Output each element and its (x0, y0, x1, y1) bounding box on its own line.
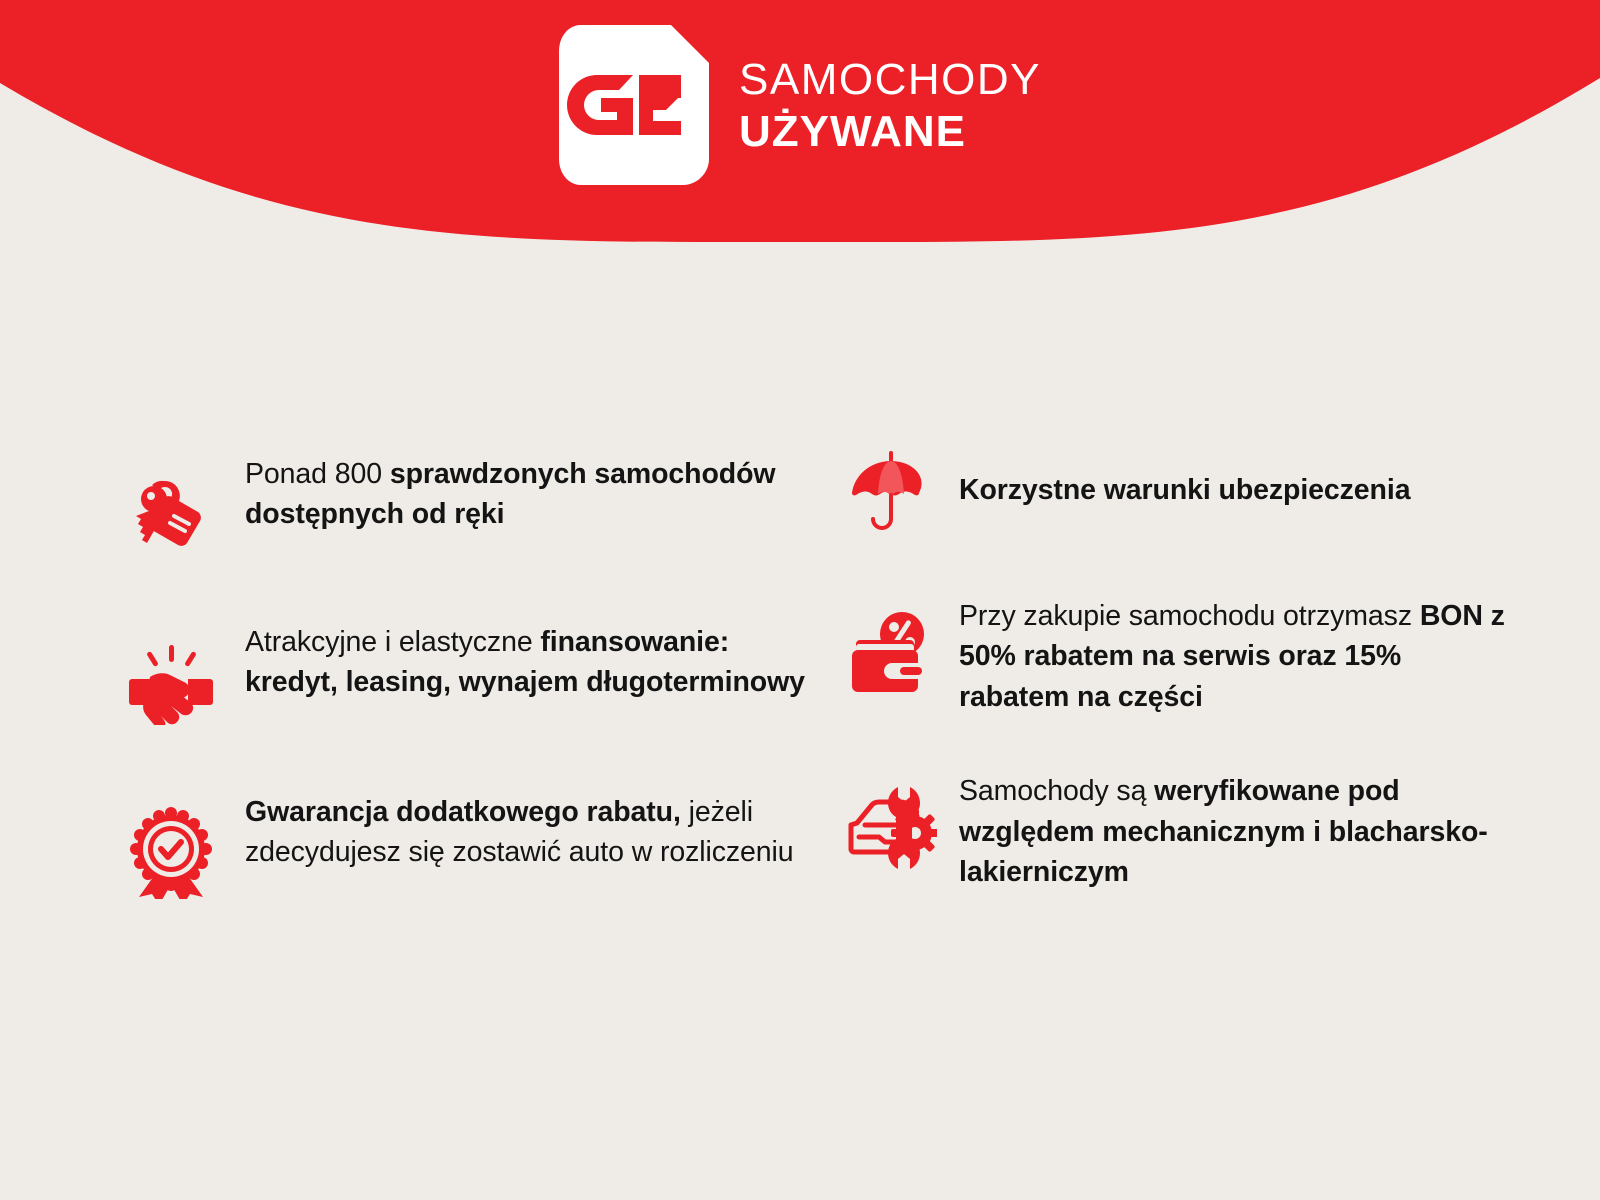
gb-logo-icon (559, 25, 709, 185)
feature-column-left: Ponad 800 sprawdzonych samochodów dostęp… (125, 430, 845, 902)
wordmark-line-2: UŻYWANE (739, 110, 1041, 154)
header-banner: SAMOCHODY UŻYWANE (0, 0, 1600, 260)
feature-text: Atrakcyjne i elastyczne finansowanie: kr… (245, 620, 825, 703)
wallet-percent-icon (845, 602, 937, 702)
feature-item: Samochody są weryfikowane pod względem m… (845, 769, 1565, 892)
feature-item: Gwarancja dodatkowego rabatu, jeżeli zde… (125, 790, 845, 902)
feature-text: Samochody są weryfikowane pod względem m… (959, 769, 1519, 892)
feature-text: Przy zakupie samochodu otrzymasz BON z 5… (959, 594, 1519, 717)
feature-text: Ponad 800 sprawdzonych samochodów dostęp… (245, 452, 825, 535)
feature-item: Przy zakupie samochodu otrzymasz BON z 5… (845, 594, 1565, 717)
brand-wordmark: SAMOCHODY UŻYWANE (739, 56, 1041, 154)
feature-item: Korzystne warunki ubezpieczenia (845, 452, 1565, 542)
features-grid: Ponad 800 sprawdzonych samochodów dostęp… (0, 430, 1600, 902)
handshake-icon (125, 632, 217, 732)
brand-lockup: SAMOCHODY UŻYWANE (0, 0, 1600, 210)
feature-item: Ponad 800 sprawdzonych samochodów dostęp… (125, 452, 845, 562)
wordmark-line-1: SAMOCHODY (739, 58, 1041, 102)
feature-text: Gwarancja dodatkowego rabatu, jeżeli zde… (245, 790, 825, 873)
feature-item: Atrakcyjne i elastyczne finansowanie: kr… (125, 620, 845, 732)
umbrella-icon (845, 442, 937, 542)
feature-column-right: Korzystne warunki ubezpieczenia (845, 430, 1565, 902)
car-key-tag-icon (125, 462, 217, 562)
award-rosette-icon (125, 802, 217, 902)
feature-text: Korzystne warunki ubezpieczenia (959, 452, 1410, 510)
car-wrench-gear-icon (845, 775, 937, 875)
